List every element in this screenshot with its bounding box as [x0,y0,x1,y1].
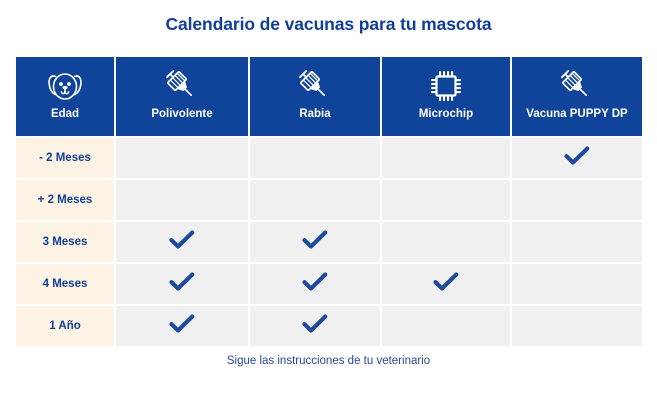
cell-microchip [382,222,510,262]
table-row: 4 Meses [16,264,642,304]
cell-microchip [382,264,510,304]
check-icon [564,146,590,166]
check-icon [169,230,195,250]
age-label: + 2 Meses [16,180,114,220]
header-label-microchip: Microchip [419,108,473,120]
cell-rabia [250,306,380,346]
cell-vacuna-puppy-dp [512,264,642,304]
check-icon [302,230,328,250]
header-row: Edad [16,57,642,136]
cell-rabia [250,264,380,304]
table-row: - 2 Meses [16,138,642,178]
vaccination-schedule-page: Calendario de vacunas para tu mascota [0,0,657,400]
age-label: 1 Año [16,306,114,346]
header-cell-edad: Edad [16,57,114,136]
header-cell-microchip: Microchip [382,57,510,136]
page-title: Calendario de vacunas para tu mascota [0,14,657,35]
header-label-rabia: Rabia [299,108,330,120]
age-label: 4 Meses [16,264,114,304]
table-body: - 2 Meses + 2 Meses [16,138,642,346]
header-label-polivolente: Polivolente [151,108,212,120]
header-label-edad: Edad [51,108,79,120]
cell-rabia [250,138,380,178]
microchip-icon [428,66,464,106]
cell-microchip [382,180,510,220]
cell-microchip [382,306,510,346]
header-cell-vacuna-puppy-dp: Vacuna PUPPY DP [512,57,642,136]
syringe-icon [295,66,335,106]
header-cell-polivolente: Polivolente [116,57,248,136]
vaccination-schedule-table: Edad [14,55,644,348]
dog-face-icon [44,66,86,106]
cell-rabia [250,222,380,262]
cell-rabia [250,180,380,220]
age-label: - 2 Meses [16,138,114,178]
table-row: + 2 Meses [16,180,642,220]
table-header: Edad [16,57,642,136]
cell-vacuna-puppy-dp [512,180,642,220]
table-row: 3 Meses [16,222,642,262]
check-icon [169,272,195,292]
cell-polivolente [116,138,248,178]
footer-note: Sigue las instrucciones de tu veterinari… [0,355,657,367]
cell-polivolente [116,306,248,346]
cell-vacuna-puppy-dp [512,306,642,346]
check-icon [433,272,459,292]
header-cell-rabia: Rabia [250,57,380,136]
check-icon [169,314,195,334]
age-label: 3 Meses [16,222,114,262]
syringe-icon [162,66,202,106]
header-label-vacuna-puppy-dp: Vacuna PUPPY DP [526,108,627,120]
cell-polivolente [116,222,248,262]
cell-vacuna-puppy-dp [512,222,642,262]
cell-vacuna-puppy-dp [512,138,642,178]
cell-polivolente [116,264,248,304]
check-icon [302,314,328,334]
check-icon [302,272,328,292]
schedule-table-container: Edad [14,55,642,348]
syringe-icon [557,66,597,106]
table-row: 1 Año [16,306,642,346]
cell-polivolente [116,180,248,220]
cell-microchip [382,138,510,178]
